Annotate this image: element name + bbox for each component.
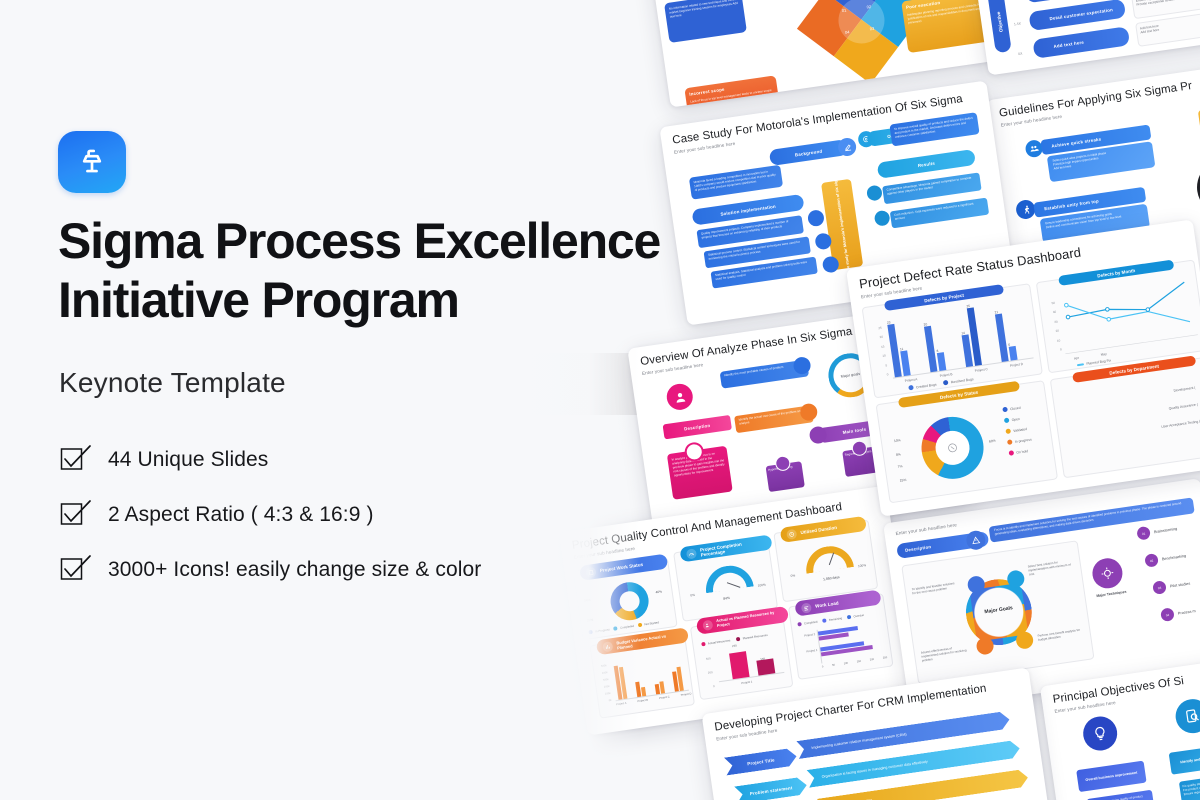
feature-label: 44 Unique Slides xyxy=(108,448,268,472)
legend-label: Validated xyxy=(1013,427,1027,433)
card-duration: Utilised Duration 0% 100% 1,850 days xyxy=(773,519,878,602)
result-row-2: Cost reduction. Total expenses were redu… xyxy=(890,198,989,229)
x-tick: Project 1 xyxy=(741,680,753,686)
bar-value: 21 xyxy=(994,310,998,314)
card-defects-by-status: Defects by Status 10% 8% 7% 15% 60% Clos… xyxy=(876,380,1059,503)
page-subtitle: Keynote Template xyxy=(59,363,286,403)
technique-num: 04 xyxy=(1160,607,1175,622)
bar xyxy=(936,352,945,371)
objective-bullets-2: Fix quality standards For product or pro… xyxy=(1179,772,1200,800)
callout-box: No information related to new technique … xyxy=(664,0,747,43)
card-heading: Project Completion Percentage xyxy=(700,538,767,557)
label: Description xyxy=(684,423,711,432)
technique-num: 01 xyxy=(1136,526,1151,541)
node-description: Description xyxy=(663,415,732,440)
tick: Project B xyxy=(939,372,952,378)
search-doc-icon xyxy=(1173,697,1200,736)
bar-value: 230 xyxy=(732,643,737,648)
label: Major goals xyxy=(840,372,860,379)
block-background-body: Motorola faced a leading competitors in … xyxy=(689,165,783,200)
goal-icon-3 xyxy=(1015,631,1034,650)
bar-value: 8 xyxy=(936,349,938,353)
charter-label-2: Problem statement xyxy=(734,776,808,800)
label: Description xyxy=(905,544,932,553)
range-min: 0% xyxy=(790,573,795,578)
tick: 200 xyxy=(870,658,875,662)
label: Achieve quick streaks xyxy=(1051,137,1102,149)
block-background-label: Background xyxy=(769,139,848,166)
tick: Project D xyxy=(1010,362,1024,368)
legend-label: Closed xyxy=(1010,405,1021,410)
person-icon xyxy=(665,382,694,411)
slice-value: 8% xyxy=(896,452,901,457)
card-heading: Utilised Duration xyxy=(800,525,837,535)
value: Implementing customer relation managemen… xyxy=(811,732,907,750)
tick: 400 xyxy=(701,651,712,666)
checkbox-check-icon xyxy=(60,445,94,475)
slice-value: 60% xyxy=(989,439,996,444)
percent-gear-icon xyxy=(933,429,972,468)
department-rows: Development ( Quality Assurance ( User A… xyxy=(1064,386,1200,442)
hero-panel: Sigma Process Excellence Initiative Prog… xyxy=(58,0,658,800)
range-min: 0% xyxy=(690,593,695,598)
users-icon xyxy=(702,620,713,631)
legend-label: Planned Resources xyxy=(742,633,768,641)
legend-label: Remaining xyxy=(829,616,843,622)
legend-label: Open xyxy=(1011,416,1020,421)
row-label: Add text here xyxy=(1053,40,1084,49)
goal-text: Perform cost benefit analysis for budget… xyxy=(1037,627,1086,642)
card-defects-by-month: Defects by Month 50 40 30 20 10 0 xyxy=(1036,259,1200,373)
tick: Apr xyxy=(1074,356,1079,361)
label: Main tools xyxy=(842,427,866,435)
row-label: Development ( xyxy=(1173,386,1195,393)
callout-incorrect-scope: Incorrect scope Lack of focus in top lev… xyxy=(684,75,782,107)
legend: Planned Bug Fix xyxy=(1077,358,1112,367)
technique-label: Process m xyxy=(1178,609,1196,616)
scale-0x: 0X xyxy=(1018,52,1023,57)
goal-text: To identify and feasible solutions for t… xyxy=(911,581,956,595)
tick: Project 1 xyxy=(799,648,817,655)
goal-text: Assess effectiveness of implemented solu… xyxy=(921,644,968,662)
diamond-num-3: 03 xyxy=(869,26,874,32)
legend-label: On hold xyxy=(1016,449,1028,455)
card-defects-by-department: Defects by Department Development ( Qual… xyxy=(1050,356,1200,478)
bulb-icon xyxy=(1081,714,1120,753)
objective-tab: Objective xyxy=(987,0,1012,53)
body: Competitive advantage. Motorola gained c… xyxy=(886,175,976,196)
body: Cost reduction. Total expenses were redu… xyxy=(894,200,984,221)
charter-label-1: Project Title xyxy=(724,747,798,775)
legend-label: Planned Bug Fix xyxy=(1086,358,1111,366)
technique-label: Benchmarking xyxy=(1162,553,1187,560)
tick: Project A xyxy=(904,377,917,383)
legend-label: Resolved Bugs xyxy=(951,377,974,384)
techniques-label: Major Techniques xyxy=(1091,589,1131,599)
label: Project Title xyxy=(747,757,775,766)
row-label: User Acceptance Testing ( xyxy=(1161,419,1200,429)
tick: Project D xyxy=(681,692,692,696)
tick: 0 xyxy=(1052,345,1062,356)
slice-value: 10% xyxy=(894,438,901,443)
legend-label: Created Bugs xyxy=(916,382,937,389)
bar-value: 20 xyxy=(923,322,927,326)
y-axis-labels: Project 2 Project 1 xyxy=(797,632,818,654)
tick: 50 xyxy=(832,664,835,667)
tick: 250 xyxy=(883,656,888,660)
techniques-icon xyxy=(1090,556,1124,590)
feature-item: 2 Aspect Ratio ( 4:3 & 16:9 ) xyxy=(60,487,620,542)
technique-label: Brainstorming xyxy=(1154,526,1178,533)
slide-objective[interactable]: Objective 2X 1.4X 0X Develop data collec… xyxy=(964,0,1200,75)
label: Identify the actual root cause of the pr… xyxy=(738,408,808,426)
label: Problem statement xyxy=(749,785,792,796)
objective-tab-label: Objective xyxy=(995,11,1003,32)
title-line-2: Initiative Program xyxy=(58,272,459,328)
tick: 0 xyxy=(822,665,824,668)
money-icon xyxy=(874,210,891,227)
dark-circle-icon xyxy=(1193,156,1200,219)
objective-row-2: Detail customer expectation xyxy=(1028,0,1126,31)
bullet: Focuses on improving quality of product xyxy=(1090,793,1150,800)
legend-label: In progress xyxy=(1014,437,1031,443)
scale-14x: 1.4X xyxy=(1014,21,1021,26)
y-axis-ticks: 400 200 0 xyxy=(701,651,716,694)
row-label: Quality Assurance ( xyxy=(1168,402,1198,410)
technique-row-1: 01 Brainstorming xyxy=(1136,522,1178,541)
feature-label: 3000+ Icons! easily change size & color xyxy=(108,558,481,582)
checkbox-check-icon xyxy=(60,555,94,585)
card-heading: Work Load xyxy=(815,600,839,608)
technique-row-3: 03 Pilot studies xyxy=(1152,577,1191,595)
card-workload: Work Load Completed Remaining Overdue Pr… xyxy=(788,593,894,680)
label: Overall business improvement xyxy=(1085,771,1137,782)
label: Results xyxy=(917,160,935,167)
legend-label: Overdue xyxy=(853,613,864,618)
feature-item: 44 Unique Slides xyxy=(60,432,620,487)
bar-value: 138 xyxy=(760,657,765,662)
label: Establish unity from top xyxy=(1044,198,1099,211)
range-max: 100% xyxy=(757,583,766,588)
gauge-value: 1,850 days xyxy=(819,575,843,582)
body: Motorola faced a leading competitors in … xyxy=(693,168,778,192)
bar-value: 23 xyxy=(887,320,891,324)
load-icon xyxy=(801,602,812,613)
page-title: Sigma Process Excellence Initiative Prog… xyxy=(58,212,678,330)
card-resources: Actual vs Planned Resources by Project A… xyxy=(690,613,794,700)
bar-value: 25 xyxy=(966,304,970,308)
label: Identify the most probable causes of pro… xyxy=(724,362,804,377)
gauge-icon xyxy=(686,548,697,559)
feature-item: 3000+ Icons! easily change size & color xyxy=(60,542,620,597)
major-goals-panel: Major Goals To identify and feasible sol… xyxy=(901,540,1094,684)
bar xyxy=(995,313,1009,362)
callout-body: No information related to new technique … xyxy=(669,0,740,19)
technique-num: 03 xyxy=(1152,580,1167,595)
feature-list: 44 Unique Slides 2 Aspect Ratio ( 4:3 & … xyxy=(60,432,620,597)
tick: May xyxy=(1100,352,1107,357)
diamond-num-1: 01 xyxy=(842,8,847,14)
gauge-arc xyxy=(703,563,754,594)
tick: 0 xyxy=(705,679,716,694)
bar-value: 11 xyxy=(900,347,904,351)
technique-label: Pilot studies xyxy=(1170,581,1191,588)
label: Solution implementation xyxy=(720,203,776,216)
technique-num: 02 xyxy=(1144,553,1159,568)
slice-value: 7% xyxy=(897,464,902,469)
tick: 150 xyxy=(857,660,862,664)
objective-row-3: Add text here xyxy=(1032,26,1130,58)
objective-label-2: Identify and remove defects xyxy=(1169,743,1200,774)
bar-value: 14 xyxy=(961,331,965,335)
line-plot-area xyxy=(1057,277,1198,355)
donut-chart xyxy=(917,413,987,483)
goal-text: Select best solution for implementation … xyxy=(1027,558,1076,577)
bar-plot-area: 230 138 xyxy=(714,641,784,682)
tick: Project C xyxy=(659,695,670,699)
clock-icon xyxy=(786,528,797,539)
technique-row-4: 04 Process m xyxy=(1160,604,1196,622)
bar xyxy=(1008,346,1017,361)
legend-label: Actual Resources xyxy=(708,638,731,645)
keynote-podium-icon xyxy=(75,145,109,179)
gauge-value: 84% xyxy=(723,596,730,601)
poster-canvas: No information related to new technique … xyxy=(0,0,1200,800)
row-label: Detail customer expectation xyxy=(1049,7,1113,21)
value: Organization is facing issues in managin… xyxy=(821,760,927,779)
app-logo xyxy=(58,131,126,193)
label: Identify and remove defects xyxy=(1180,754,1200,765)
slice-value: 15% xyxy=(899,478,906,483)
tick: Project C xyxy=(974,367,988,373)
label: Background xyxy=(794,148,822,157)
feature-label: 2 Aspect Ratio ( 4:3 & 16:9 ) xyxy=(108,503,374,527)
slide-defect-dashboard[interactable]: Project Defect Rate Status Dashboard Ent… xyxy=(846,219,1200,516)
objective-label-1: Overall business improvement xyxy=(1076,761,1146,792)
diamond-num-2: 02 xyxy=(866,4,871,10)
bullet: Provide exceptional customer services xyxy=(1136,0,1200,7)
status-legend: Closed Open Validated In progress On hol… xyxy=(1002,404,1033,456)
tick: 200 xyxy=(703,665,714,680)
diamond-num-4: 04 xyxy=(845,29,850,35)
title-line-1: Sigma Process Excellence xyxy=(58,213,660,269)
runner-icon xyxy=(1015,199,1037,221)
gear-icon xyxy=(807,209,825,227)
legend-label: Completed xyxy=(804,620,818,626)
tick: Project 2 xyxy=(797,632,815,639)
gauge-arc xyxy=(803,543,854,574)
tick: 100 xyxy=(844,662,849,666)
objective-bullets-1: Focuses on improving quality of product xyxy=(1086,790,1155,800)
bulb-icon xyxy=(866,185,883,202)
tick: 0 xyxy=(879,370,889,381)
range-max: 100% xyxy=(858,563,867,568)
technique-row-2: 02 Benchmarking xyxy=(1144,549,1187,568)
checkbox-check-icon xyxy=(60,500,94,530)
bar-value: 6 xyxy=(1008,343,1010,347)
